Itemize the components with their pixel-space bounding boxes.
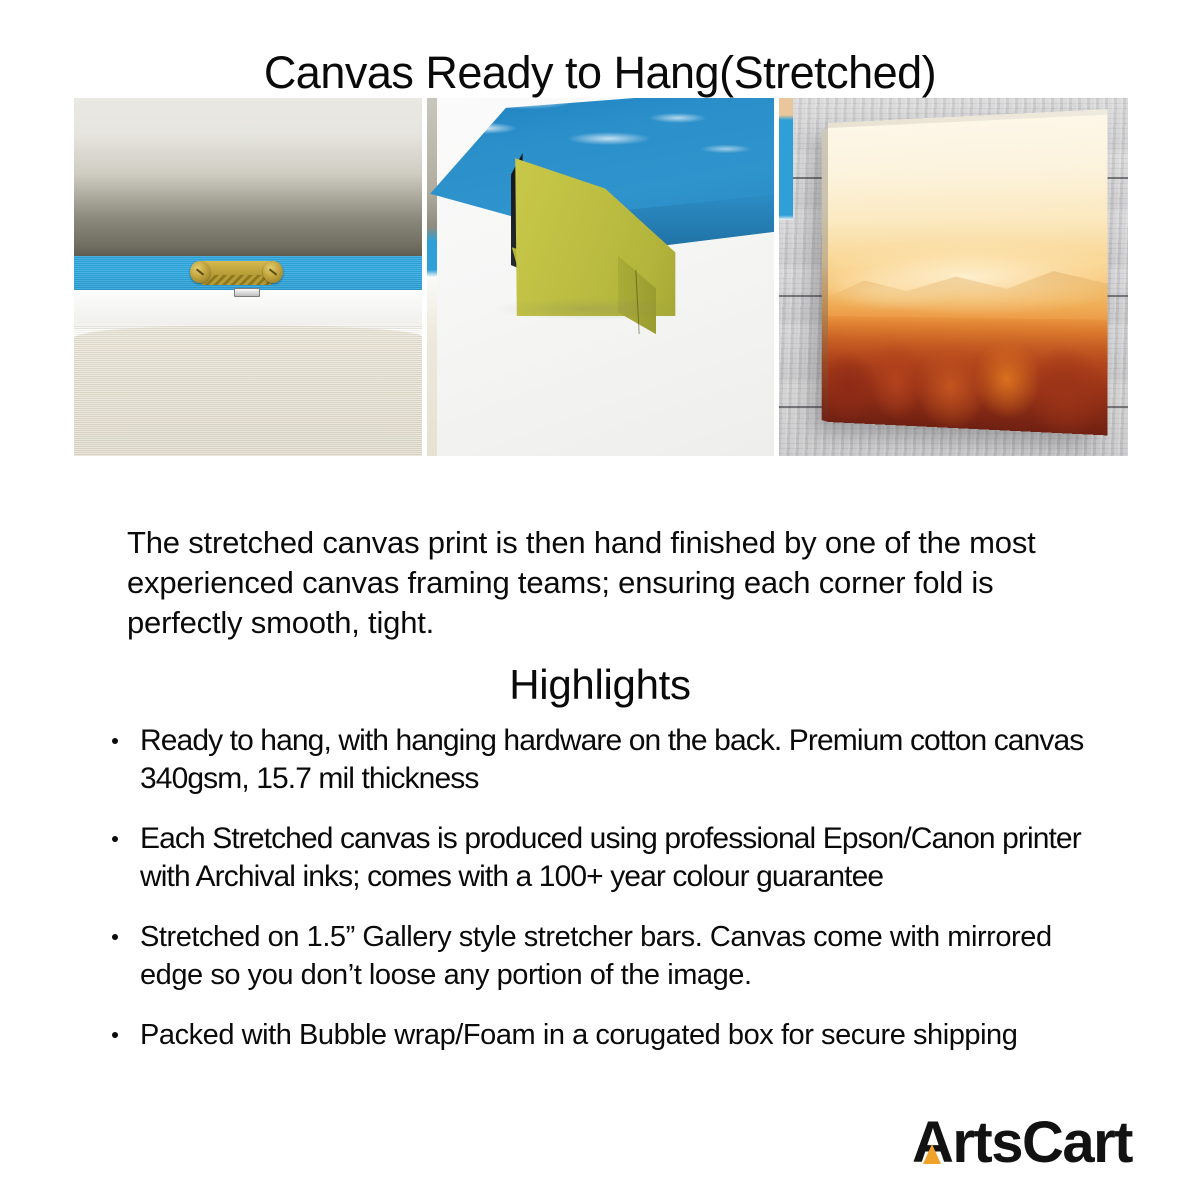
canvas-metal-tab: [234, 288, 260, 297]
bullet-dot-icon: [112, 934, 118, 940]
bullet-dot-icon: [112, 836, 118, 842]
hanger-screw-left: [190, 261, 209, 284]
bullet-dot-icon: [112, 738, 118, 744]
intro-paragraph: The stretched canvas print is then hand …: [127, 523, 1072, 643]
photo-canvas-hanging-on-wall: [779, 98, 1128, 456]
hanger-teeth: [202, 275, 270, 284]
corner-fold-drop-shadow: [496, 298, 677, 319]
brand-logo-letter-a-text: A: [912, 1110, 952, 1175]
highlight-item-text: Packed with Bubble wrap/Foam in a coruga…: [140, 1019, 1017, 1051]
canvas-printed-face: [828, 115, 1107, 435]
highlights-heading: Highlights: [0, 661, 1200, 709]
canvas-back-surface: [74, 325, 422, 456]
highlight-item: Each Stretched canvas is produced using …: [106, 820, 1116, 896]
hanger-screw-right: [263, 261, 282, 284]
photo-canvas-corner-fold: [427, 98, 775, 456]
brand-logo[interactable]: A rtsCart: [912, 1114, 1132, 1172]
adjacent-photo-bleed-strip: [779, 98, 793, 220]
photo-canvas-back-hanging-hardware: [74, 98, 422, 456]
highlight-item-text: Stretched on 1.5” Gallery style stretche…: [140, 921, 1052, 991]
product-photo-gallery: [74, 98, 1128, 456]
page-title: Canvas Ready to Hang(Stretched): [0, 46, 1200, 100]
highlight-item-text: Each Stretched canvas is produced using …: [140, 822, 1081, 893]
brand-logo-remainder: rtsCart: [952, 1114, 1132, 1172]
triangle-icon: [923, 1144, 941, 1164]
sawtooth-hanger-icon: [190, 260, 282, 287]
canvas-back-wall-shadow: [74, 98, 422, 256]
bullet-dot-icon: [112, 1032, 118, 1038]
highlight-item: Packed with Bubble wrap/Foam in a coruga…: [106, 1016, 1116, 1054]
highlights-list: Ready to hang, with hanging hardware on …: [106, 722, 1116, 1076]
highlight-item: Ready to hang, with hanging hardware on …: [106, 722, 1116, 798]
brand-logo-letter-a: A: [912, 1114, 952, 1172]
highlight-item-text: Ready to hang, with hanging hardware on …: [140, 724, 1083, 795]
corner-fold-left-edge-strip: [427, 98, 437, 456]
hanging-canvas-artwork: [828, 115, 1107, 435]
sunset-foreground-foliage: [828, 316, 1107, 435]
highlight-item: Stretched on 1.5” Gallery style stretche…: [106, 918, 1116, 994]
